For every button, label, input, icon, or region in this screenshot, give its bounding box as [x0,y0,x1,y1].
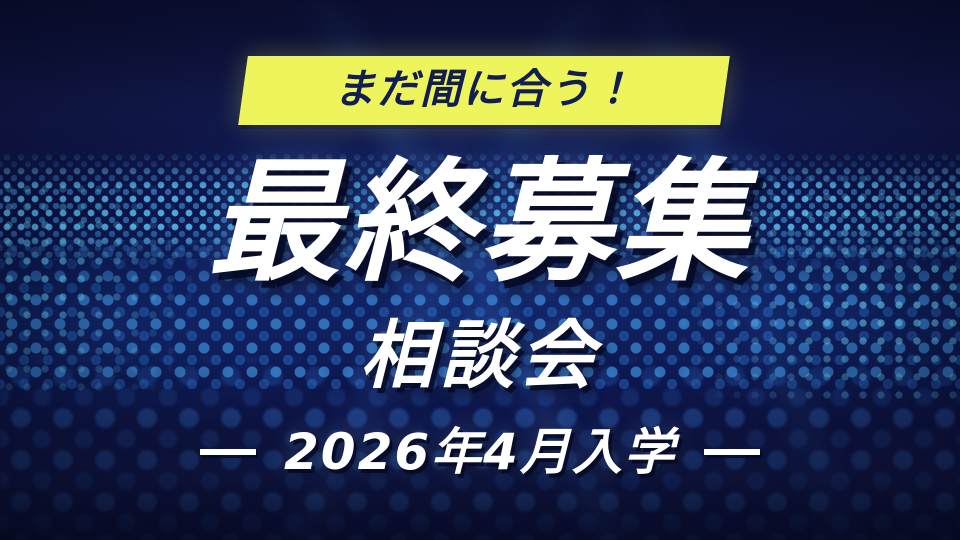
date-line: 2026年4月入学 [0,427,960,477]
promo-banner-canvas: まだ間に合う！ 最終募集 相談会 2026年4月入学 [0,0,960,540]
headline-sub: 相談会 [0,318,960,396]
dash-left-icon [200,449,256,455]
kicker-label: まだ間に合う！ [334,69,635,112]
headline-main: 最終募集 [0,152,960,295]
kicker-banner: まだ間に合う！ [238,56,730,125]
promo-content: まだ間に合う！ 最終募集 相談会 2026年4月入学 [0,0,960,540]
date-label: 2026年4月入学 [284,427,676,477]
dash-right-icon [704,449,760,455]
